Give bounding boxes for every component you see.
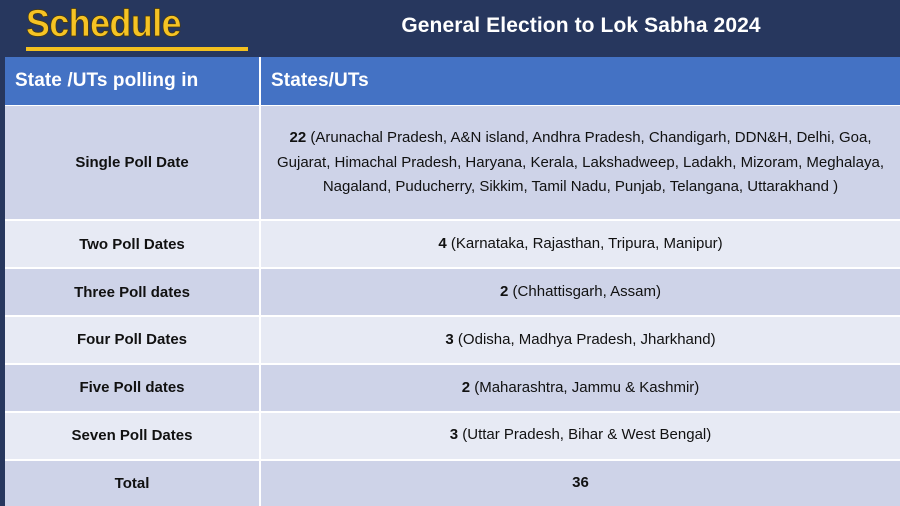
table-header: State /UTs polling in States/UTs bbox=[5, 57, 900, 106]
row-detail: (Chhattisgarh, Assam) bbox=[508, 283, 661, 300]
row-value-seven-poll-dates: 3 (Uttar Pradesh, Bihar & West Bengal) bbox=[260, 412, 900, 460]
row-value-total: 36 bbox=[260, 460, 900, 506]
table-row: Seven Poll Dates 3 (Uttar Pradesh, Bihar… bbox=[5, 412, 900, 460]
schedule-table: State /UTs polling in States/UTs Single … bbox=[5, 57, 900, 506]
row-detail: (Uttar Pradesh, Bihar & West Bengal) bbox=[458, 426, 711, 443]
table-row: Single Poll Date 22 (Arunachal Pradesh, … bbox=[5, 106, 900, 221]
row-label-two-poll-dates: Two Poll Dates bbox=[5, 220, 260, 268]
row-value-four-poll-dates: 3 (Odisha, Madhya Pradesh, Jharkhand) bbox=[260, 316, 900, 364]
row-value-five-poll-dates: 2 (Maharashtra, Jammu & Kashmir) bbox=[260, 364, 900, 412]
row-label-four-poll-dates: Four Poll Dates bbox=[5, 316, 260, 364]
table-row: Three Poll dates 2 (Chhattisgarh, Assam) bbox=[5, 268, 900, 316]
column-header-states: States/UTs bbox=[260, 57, 900, 106]
title-underline bbox=[26, 47, 248, 51]
table-row: Four Poll Dates 3 (Odisha, Madhya Prades… bbox=[5, 316, 900, 364]
row-value-single-poll-date: 22 (Arunachal Pradesh, A&N island, Andhr… bbox=[260, 106, 900, 221]
column-header-poll-dates: State /UTs polling in bbox=[5, 57, 260, 106]
page-title: Schedule bbox=[26, 2, 238, 46]
row-label-three-poll-dates: Three Poll dates bbox=[5, 268, 260, 316]
table-row-total: Total 36 bbox=[5, 460, 900, 506]
row-count: 2 bbox=[462, 379, 470, 396]
row-label-single-poll-date: Single Poll Date bbox=[5, 106, 260, 221]
row-detail: (Arunachal Pradesh, A&N island, Andhra P… bbox=[277, 129, 884, 195]
slide-canvas: Schedule General Election to Lok Sabha 2… bbox=[0, 0, 900, 506]
row-value-two-poll-dates: 4 (Karnataka, Rajasthan, Tripura, Manipu… bbox=[260, 220, 900, 268]
row-detail: (Karnataka, Rajasthan, Tripura, Manipur) bbox=[447, 235, 723, 252]
row-value-three-poll-dates: 2 (Chhattisgarh, Assam) bbox=[260, 268, 900, 316]
title-block: Schedule bbox=[26, 2, 251, 55]
row-count: 3 bbox=[450, 426, 458, 443]
table-row: Two Poll Dates 4 (Karnataka, Rajasthan, … bbox=[5, 220, 900, 268]
row-label-seven-poll-dates: Seven Poll Dates bbox=[5, 412, 260, 460]
table-body: Single Poll Date 22 (Arunachal Pradesh, … bbox=[5, 106, 900, 506]
header-band: Schedule General Election to Lok Sabha 2… bbox=[0, 0, 900, 57]
row-count: 4 bbox=[438, 235, 446, 252]
row-count: 3 bbox=[445, 331, 453, 348]
row-detail: (Maharashtra, Jammu & Kashmir) bbox=[470, 379, 699, 396]
page-subtitle: General Election to Lok Sabha 2024 bbox=[262, 2, 900, 50]
table-row: Five Poll dates 2 (Maharashtra, Jammu & … bbox=[5, 364, 900, 412]
row-label-total: Total bbox=[5, 460, 260, 506]
row-detail: (Odisha, Madhya Pradesh, Jharkhand) bbox=[454, 331, 716, 348]
row-count: 22 bbox=[290, 129, 307, 146]
row-label-five-poll-dates: Five Poll dates bbox=[5, 364, 260, 412]
table-header-row: State /UTs polling in States/UTs bbox=[5, 57, 900, 106]
